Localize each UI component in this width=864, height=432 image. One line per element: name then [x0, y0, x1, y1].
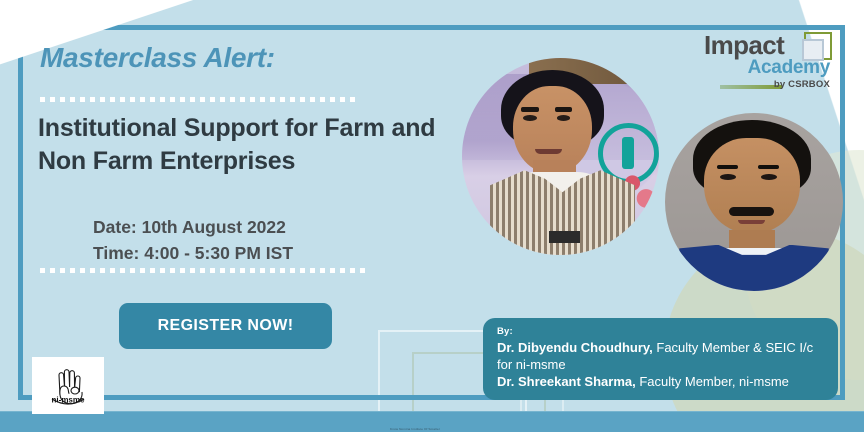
speaker-row-1: Dr. Dibyendu Choudhury, Faculty Member &…: [497, 339, 824, 373]
hand-gesture-icon: ni-msme: [39, 362, 97, 410]
ni-msme-wordmark: ni-msme: [52, 395, 85, 404]
photo2-eye-right: [761, 174, 777, 180]
footer-micro-text: Know Nomina Institute Of Smatter: [390, 427, 590, 431]
event-date: Date: 10th August 2022: [93, 214, 293, 240]
photo2-eyebrow-left: [717, 165, 738, 170]
dotted-divider-top: [40, 97, 357, 102]
ni-msme-logo: ni-msme: [32, 357, 104, 414]
speaker-1-name: Dr. Dibyendu Choudhury,: [497, 340, 653, 355]
page-title: Institutional Support for Farm and Non F…: [38, 112, 458, 178]
photo1-badge: [549, 231, 581, 243]
speaker-2-role: Faculty Member, ni-msme: [636, 374, 789, 389]
speaker-photo-dibyendu-choudhury: [462, 58, 659, 255]
photo1-eye-left: [523, 115, 537, 121]
speaker-row-2: Dr. Shreekant Sharma, Faculty Member, ni…: [497, 373, 824, 390]
photo2-eye-left: [720, 174, 736, 180]
speakers-by-label: By:: [497, 326, 824, 337]
logo-rule: [720, 85, 782, 89]
logo-academy-word: Academy: [748, 57, 830, 79]
register-now-button[interactable]: REGISTER NOW!: [119, 303, 332, 349]
photo1-eyebrow-right: [555, 107, 573, 111]
dotted-divider-bottom: [40, 268, 370, 273]
impact-academy-logo: Impact Academy by CSRBOX: [704, 30, 832, 92]
photo1-eyebrow-left: [521, 107, 539, 111]
speakers-card: By: Dr. Dibyendu Choudhury, Faculty Memb…: [483, 318, 838, 400]
kicker-text: Masterclass Alert:: [40, 42, 275, 74]
photo2-eyebrow-right: [758, 165, 779, 170]
photo2-mustache: [729, 207, 774, 216]
logo-csrbox-word: by CSRBOX: [774, 79, 830, 90]
speaker-photo-shreekant-sharma: [665, 113, 843, 291]
photo1-mouth: [535, 149, 563, 154]
event-time: Time: 4:00 - 5:30 PM IST: [93, 240, 293, 266]
poster-canvas: Masterclass Alert: Institutional Support…: [0, 0, 864, 432]
photo2-mouth: [738, 220, 765, 224]
event-schedule: Date: 10th August 2022 Time: 4:00 - 5:30…: [93, 214, 293, 267]
speaker-2-name: Dr. Shreekant Sharma,: [497, 374, 636, 389]
